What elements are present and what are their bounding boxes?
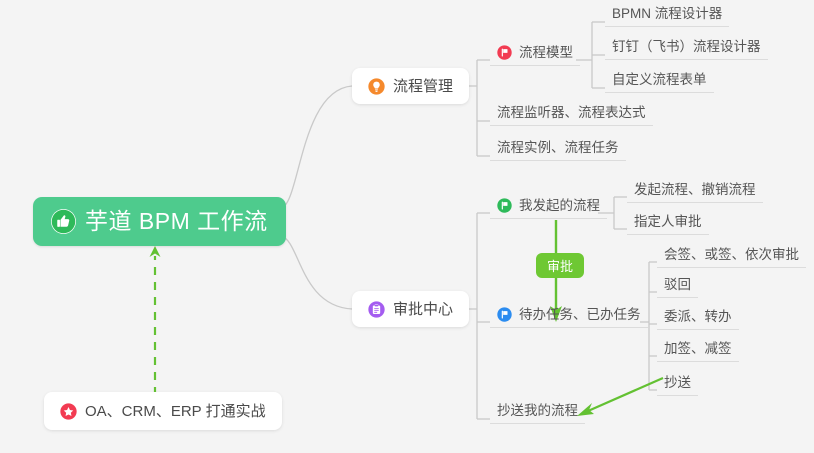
node-label: 指定人审批 xyxy=(634,215,702,229)
node-assignee-approval[interactable]: 指定人审批 xyxy=(627,215,709,235)
node-process-model[interactable]: 流程模型 xyxy=(490,45,580,66)
thumbs-up-icon xyxy=(51,209,76,234)
clipboard-icon xyxy=(368,301,385,318)
node-bpmn-designer[interactable]: BPMN 流程设计器 xyxy=(605,7,729,27)
node-label: 流程实例、流程任务 xyxy=(497,141,619,155)
node-label: 会签、或签、依次审批 xyxy=(664,248,799,262)
node-todo-done-tasks[interactable]: 待办任务、已办任务 xyxy=(490,307,648,328)
node-label: 流程模型 xyxy=(519,46,573,60)
flag-icon xyxy=(497,307,512,322)
node-label: 委派、转办 xyxy=(664,310,732,324)
mindmap-canvas: 芋道 BPM 工作流 流程管理 审批中心 xyxy=(0,0,814,453)
node-process-instance-task[interactable]: 流程实例、流程任务 xyxy=(490,141,626,161)
node-custom-process-form[interactable]: 自定义流程表单 xyxy=(605,73,714,93)
node-my-started-process[interactable]: 我发起的流程 xyxy=(490,198,607,219)
node-delegate-transfer[interactable]: 委派、转办 xyxy=(657,310,739,330)
node-label: 钉钉（飞书）流程设计器 xyxy=(612,40,761,54)
node-label: 自定义流程表单 xyxy=(612,73,707,87)
node-process-listener-expression[interactable]: 流程监听器、流程表达式 xyxy=(490,106,653,126)
node-reject[interactable]: 驳回 xyxy=(657,278,698,298)
node-cc[interactable]: 抄送 xyxy=(657,376,698,396)
flag-icon xyxy=(497,45,512,60)
bottom-note-card[interactable]: OA、CRM、ERP 打通实战 xyxy=(44,392,282,430)
root-label: 芋道 BPM 工作流 xyxy=(85,210,268,233)
node-multi-sign-approval[interactable]: 会签、或签、依次审批 xyxy=(657,248,806,268)
node-label: BPMN 流程设计器 xyxy=(612,7,722,21)
node-label: 待办任务、已办任务 xyxy=(519,308,641,322)
node-label: 我发起的流程 xyxy=(519,199,600,213)
cc-flow-arrow xyxy=(577,378,663,416)
node-label: 抄送我的流程 xyxy=(497,404,578,418)
branch-label: 流程管理 xyxy=(393,79,453,94)
node-label: 发起流程、撤销流程 xyxy=(634,183,756,197)
flag-icon xyxy=(497,198,512,213)
branch-approval-center[interactable]: 审批中心 xyxy=(352,291,469,327)
node-label: 抄送 xyxy=(664,376,691,390)
root-node[interactable]: 芋道 BPM 工作流 xyxy=(33,197,286,246)
node-add-remove-sign[interactable]: 加签、减签 xyxy=(657,342,739,362)
node-start-cancel-process[interactable]: 发起流程、撤销流程 xyxy=(627,183,763,203)
branch-process-management[interactable]: 流程管理 xyxy=(352,68,469,104)
node-cc-to-me-process[interactable]: 抄送我的流程 xyxy=(490,404,585,424)
bottom-note-label: OA、CRM、ERP 打通实战 xyxy=(85,404,266,419)
lightbulb-icon xyxy=(368,78,385,95)
approval-pill[interactable]: 审批 xyxy=(536,253,584,278)
node-label: 流程监听器、流程表达式 xyxy=(497,106,646,120)
star-icon xyxy=(60,403,77,420)
node-label: 加签、减签 xyxy=(664,342,732,356)
dashed-arrow-to-root xyxy=(150,246,161,395)
node-dingtalk-feishu-designer[interactable]: 钉钉（飞书）流程设计器 xyxy=(605,40,768,60)
node-label: 驳回 xyxy=(664,278,691,292)
branch-label: 审批中心 xyxy=(393,302,453,317)
